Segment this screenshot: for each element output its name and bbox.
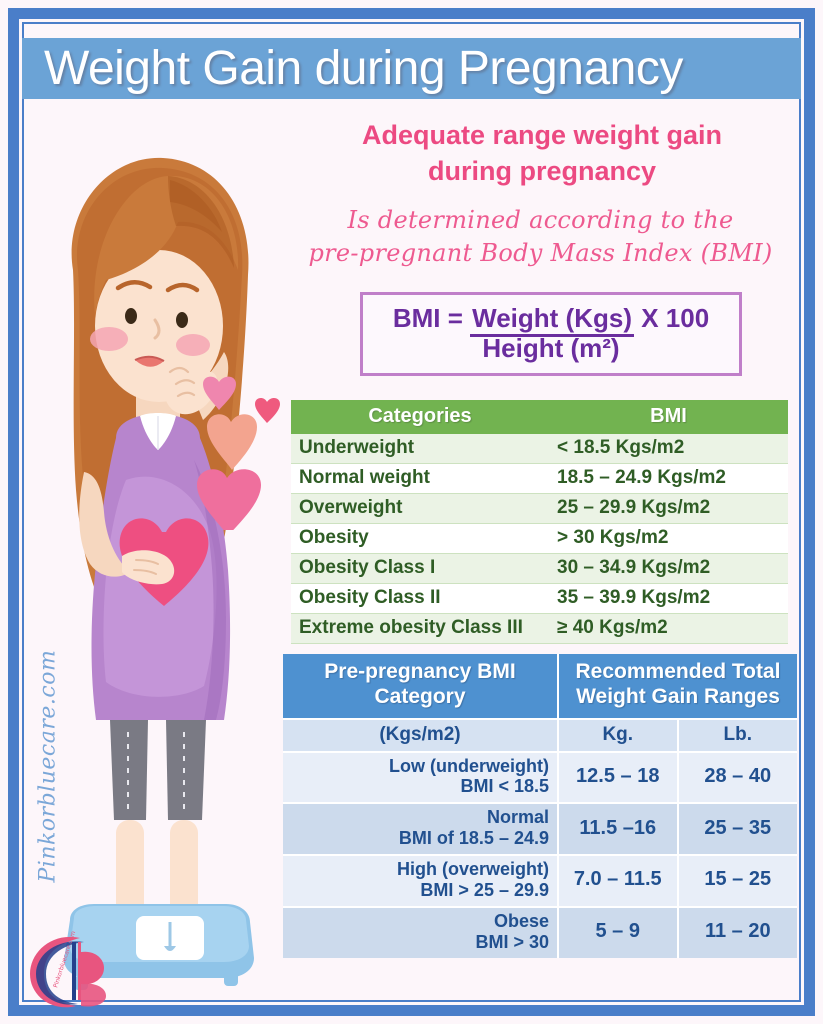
bmi-row-value: ≥ 40 Kgs/m2 [549,614,788,644]
gain-row-category-line2: BMI of 18.5 – 24.9 [289,828,549,849]
table-row: Underweight < 18.5 Kgs/m2 [291,434,788,464]
bmi-formula-numerator-line: BMI = Weight (Kgs) X 100 [393,304,709,332]
bmi-row-value: 35 – 39.9 Kgs/m2 [549,584,788,614]
gain-row-category: Low (underweight) BMI < 18.5 [283,752,558,804]
subhead-script: Is determined according to the pre-pregn… [278,204,803,270]
gain-row-lb: 28 – 40 [678,752,798,804]
bmi-row-category: Normal weight [291,464,549,494]
bmi-formula-box: BMI = Weight (Kgs) X 100 Height (m²) [360,292,742,376]
gain-row-category-line1: Obese [289,911,549,932]
gain-row-kg: 12.5 – 18 [558,752,678,804]
weight-gain-table: Pre-pregnancy BMI Category Recommended T… [283,654,797,958]
subhead-line-2: during pregnancy [288,154,796,190]
bmi-row-category: Obesity Class I [291,554,549,584]
bmi-row-value: 25 – 29.9 Kgs/m2 [549,494,788,524]
table-row: Normal BMI of 18.5 – 24.9 11.5 –16 25 – … [283,803,797,855]
gain-row-category-line1: High (overweight) [289,859,549,880]
bmi-row-value: 18.5 – 24.9 Kgs/m2 [549,464,788,494]
subhead-pink: Adequate range weight gain during pregna… [288,118,796,189]
table-row: Obese BMI > 30 5 – 9 11 – 20 [283,907,797,958]
table-row: Obesity Class I 30 – 34.9 Kgs/m2 [291,554,788,584]
table-row: Obesity Class II 35 – 39.9 Kgs/m2 [291,584,788,614]
site-watermark: Pinkorbluecare.com [36,663,61,883]
poster-title-band: Weight Gain during Pregnancy [22,38,801,99]
gain-row-kg: 7.0 – 11.5 [558,855,678,907]
table-row: High (overweight) BMI > 25 – 29.9 7.0 – … [283,855,797,907]
table-row: Overweight 25 – 29.9 Kgs/m2 [291,494,788,524]
table-row: Extreme obesity Class III ≥ 40 Kgs/m2 [291,614,788,644]
gain-row-category-line1: Low (underweight) [289,756,549,777]
floating-hearts [195,370,305,530]
table-header-row: Categories BMI [291,400,788,434]
gain-row-category-line1: Normal [289,807,549,828]
gain-subheader-lb: Lb. [678,719,798,752]
table-row: Normal weight 18.5 – 24.9 Kgs/m2 [291,464,788,494]
bmi-formula-lhs: BMI = [393,303,470,333]
table-row: Low (underweight) BMI < 18.5 12.5 – 18 2… [283,752,797,804]
gain-row-category-line2: BMI > 30 [289,932,549,953]
subhead-script-line-1: Is determined according to the [278,204,803,237]
gain-row-lb: 15 – 25 [678,855,798,907]
gain-row-category-line2: BMI < 18.5 [289,776,549,797]
gain-row-category: Normal BMI of 18.5 – 24.9 [283,803,558,855]
gain-row-category: High (overweight) BMI > 25 – 29.9 [283,855,558,907]
bmi-row-category: Extreme obesity Class III [291,614,549,644]
table-subheader-row: (Kgs/m2) Kg. Lb. [283,719,797,752]
bmi-row-category: Overweight [291,494,549,524]
gain-subheader-units: (Kgs/m2) [283,719,558,752]
gain-table-header-ranges: Recommended Total Weight Gain Ranges [558,654,797,719]
bmi-row-category: Underweight [291,434,549,464]
bmi-row-category: Obesity [291,524,549,554]
table-row: Obesity > 30 Kgs/m2 [291,524,788,554]
bmi-table-header-categories: Categories [291,400,549,434]
table-header-row: Pre-pregnancy BMI Category Recommended T… [283,654,797,719]
gain-row-kg: 5 – 9 [558,907,678,958]
gain-subheader-kg: Kg. [558,719,678,752]
bmi-row-value: > 30 Kgs/m2 [549,524,788,554]
gain-row-lb: 11 – 20 [678,907,798,958]
page-title: Weight Gain during Pregnancy [44,45,683,93]
bmi-row-value: < 18.5 Kgs/m2 [549,434,788,464]
gain-row-kg: 11.5 –16 [558,803,678,855]
gain-row-category: Obese BMI > 30 [283,907,558,958]
bmi-row-value: 30 – 34.9 Kgs/m2 [549,554,788,584]
subhead-script-line-2: pre-pregnant Body Mass Index (BMI) [278,237,803,270]
bmi-table-header-bmi: BMI [549,400,788,434]
infographic-poster: Weight Gain during Pregnancy [0,0,823,1024]
subhead-line-1: Adequate range weight gain [288,118,796,154]
gain-row-lb: 25 – 35 [678,803,798,855]
bmi-row-category: Obesity Class II [291,584,549,614]
gain-row-category-line2: BMI > 25 – 29.9 [289,880,549,901]
bmi-category-table: Categories BMI Underweight < 18.5 Kgs/m2… [291,400,788,644]
gain-table-header-category: Pre-pregnancy BMI Category [283,654,558,719]
pinkorblue-circle-logo: Pinkorbluecare.com [22,930,114,1012]
bmi-formula-denominator: Height (m²) [482,332,619,365]
bmi-formula-multiplier: X 100 [634,303,709,333]
